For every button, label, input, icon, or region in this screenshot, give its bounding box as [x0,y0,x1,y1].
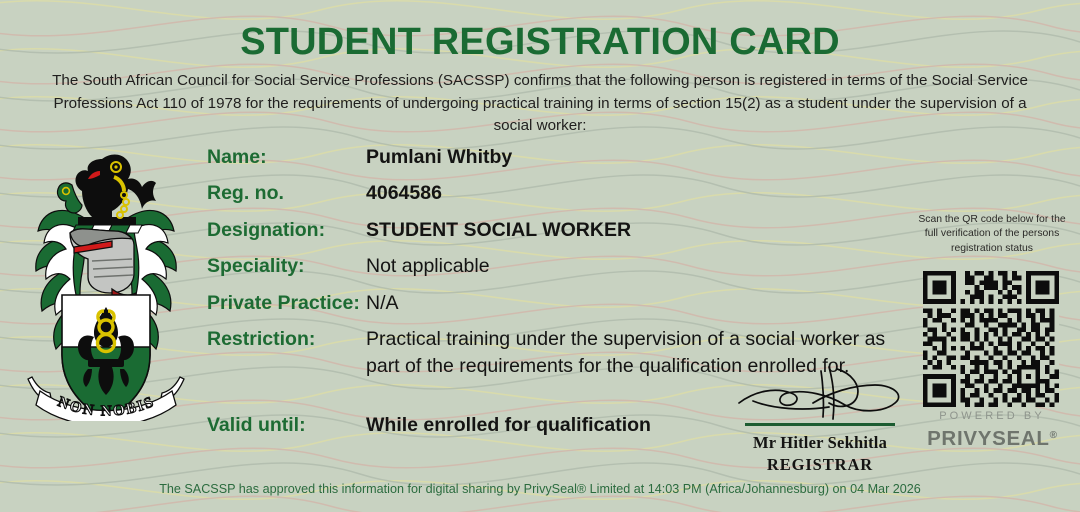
coat-of-arms-icon: NON NOBIS [16,141,196,421]
page-title: STUDENT REGISTRATION CARD [0,20,1080,64]
registered-mark: ® [1050,430,1057,441]
field-value: STUDENT SOCIAL WORKER [366,217,631,243]
intro-paragraph: The South African Council for Social Ser… [34,70,1046,138]
field-value: Not applicable [366,253,490,279]
field-row-reg-no: Reg. no. 4064586 [207,180,907,216]
field-label: Private Practice: [207,290,360,316]
field-label: Name: [207,144,267,170]
signature-block: Mr Hitler Sekhitla REGISTRAR [700,363,940,476]
signature-icon [733,363,908,425]
registrar-name: Mr Hitler Sekhitla [700,432,940,454]
field-label: Reg. no. [207,180,284,206]
field-value: N/A [366,290,399,316]
approval-footer: The SACSSP has approved this information… [0,481,1080,497]
field-row-name: Name: Pumlani Whitby [207,144,907,180]
signature-line [745,423,895,426]
field-label: Valid until: [207,412,306,438]
field-value: Pumlani Whitby [366,144,512,170]
field-row-private-practice: Private Practice: N/A [207,290,907,326]
field-value: 4064586 [366,180,442,206]
privyseal-wordmark: PRIVYSEAL® [916,423,1068,451]
qr-instruction-text: Scan the QR code below for the full veri… [916,213,1068,256]
privyseal-name: PRIVYSEAL [927,427,1050,450]
field-value: While enrolled for qualification [366,412,651,438]
field-label: Designation: [207,217,325,243]
field-label: Restriction: [207,326,315,352]
student-registration-card: STUDENT REGISTRATION CARD The South Afri… [0,0,1080,512]
field-label: Speciality: [207,253,305,279]
qr-code-icon[interactable] [923,271,1059,407]
field-row-speciality: Speciality: Not applicable [207,253,907,289]
powered-by-label: POWERED BY [916,409,1068,423]
registrar-role: REGISTRAR [700,454,940,476]
field-row-designation: Designation: STUDENT SOCIAL WORKER [207,217,907,253]
